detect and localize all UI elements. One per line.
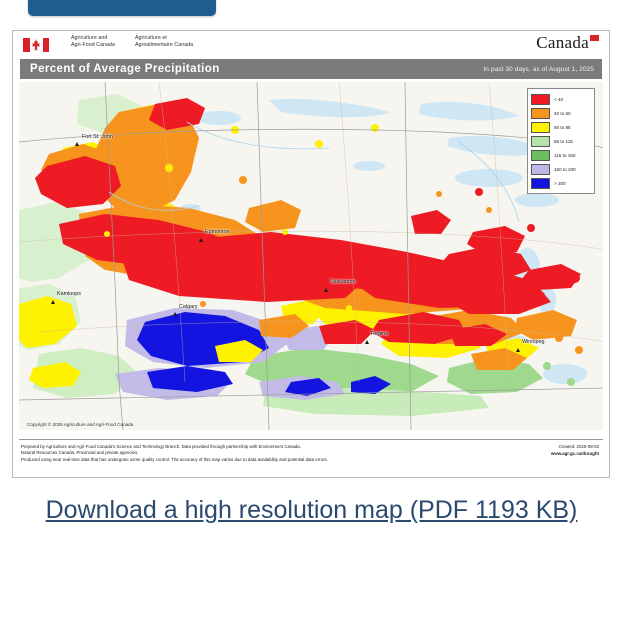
legend-label: 115 to 150 (554, 153, 575, 158)
city-marker-calgary (173, 312, 177, 316)
city-marker-regina (365, 340, 369, 344)
map-canvas[interactable]: < 40 40 to 60 60 to 85 85 to 115 115 to … (19, 82, 603, 430)
legend-item: 85 to 115 (531, 135, 591, 147)
map-copyright: Copyright © 2025 Agriculture and Agri-Fo… (27, 422, 133, 427)
precipitation-map-card: Agriculture and Agri-Food Canada Agricul… (12, 30, 610, 478)
precipitation-map-graphic (19, 82, 603, 430)
legend-swatch (531, 150, 550, 161)
city-marker-kamloops (51, 300, 55, 304)
page-root: Agriculture and Agri-Food Canada Agricul… (0, 0, 623, 628)
map-title-bar: Percent of Average Precipitation In past… (19, 58, 603, 80)
city-marker-saskatoon (324, 288, 328, 292)
legend-item: 150 to 200 (531, 163, 591, 175)
canada-wordmark-text: Canada (536, 33, 589, 52)
city-marker-fort-st-john (75, 142, 79, 146)
legend-label: 40 to 60 (554, 111, 571, 116)
created-date: Created: 2025-08-02 (551, 444, 599, 451)
legend-label: 150 to 200 (554, 167, 576, 172)
legend-swatch (531, 94, 550, 105)
top-blue-button[interactable] (28, 0, 216, 16)
legend-label: > 200 (554, 181, 566, 186)
legend-label: 85 to 115 (554, 139, 573, 144)
map-disclaimer: Prepared by Agriculture and Agri-Food Ca… (21, 444, 481, 463)
map-title: Percent of Average Precipitation (30, 63, 220, 75)
government-brand-bar: Agriculture and Agri-Food Canada Agricul… (13, 31, 609, 58)
city-marker-winnipeg (516, 348, 520, 352)
legend-label: 60 to 85 (554, 125, 571, 130)
department-name-en: Agriculture and Agri-Food Canada (71, 35, 115, 49)
map-footer: Prepared by Agriculture and Agri-Food Ca… (19, 439, 603, 473)
legend-swatch (531, 136, 550, 147)
disclaimer-line-3: Produced using near real-time data that … (21, 457, 481, 463)
legend-item: 60 to 85 (531, 121, 591, 133)
legend-swatch (531, 122, 550, 133)
website-url[interactable]: www.agr.gc.ca/drought (551, 451, 599, 458)
legend-item: < 40 (531, 93, 591, 105)
wordmark-flag-icon (590, 35, 599, 41)
download-section: Download a high resolution map (PDF 1193… (0, 496, 623, 525)
canada-flag-icon (23, 38, 49, 52)
legend-swatch (531, 178, 550, 189)
legend-label: < 40 (554, 97, 563, 102)
legend-item: 40 to 60 (531, 107, 591, 119)
map-legend: < 40 40 to 60 60 to 85 85 to 115 115 to … (527, 88, 595, 194)
canada-wordmark: Canada (536, 33, 599, 53)
map-subtitle: In past 30 days, as of August 1, 2025 (483, 66, 594, 73)
legend-item: > 200 (531, 177, 591, 189)
download-high-resolution-map-link[interactable]: Download a high resolution map (PDF 1193… (46, 496, 578, 524)
legend-swatch (531, 108, 550, 119)
legend-swatch (531, 164, 550, 175)
department-name-fr: Agriculture et Agroalimentaire Canada (135, 35, 193, 49)
legend-item: 115 to 150 (531, 149, 591, 161)
map-metadata: Created: 2025-08-02 www.agr.gc.ca/drough… (551, 444, 599, 458)
city-marker-edmonton (199, 238, 203, 242)
